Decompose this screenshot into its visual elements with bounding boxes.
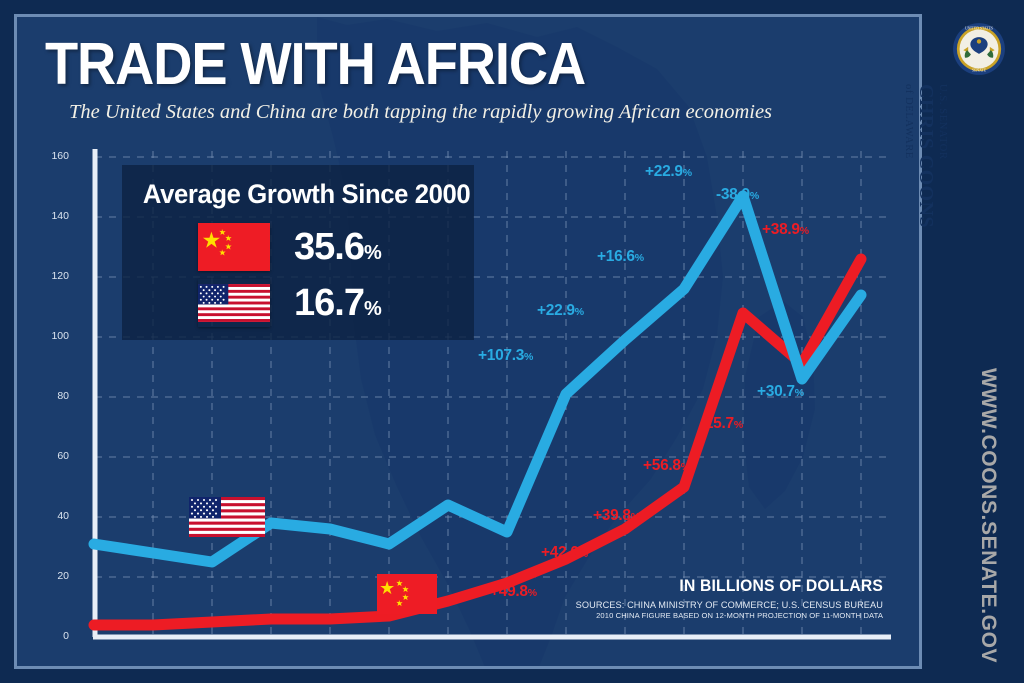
svg-text:SENATE: SENATE xyxy=(972,69,987,73)
annotation-usa-2007-unit: % xyxy=(635,252,644,264)
legend-value-usa: 16.7% xyxy=(294,282,381,325)
annotation-china-2006-unit: % xyxy=(631,511,640,523)
usa-flag-marker xyxy=(189,497,265,537)
annotation-china-2004: +49.8% xyxy=(490,583,537,601)
annotation-china-2010-value: +38.9 xyxy=(762,221,800,238)
source-line-1: SOURCES: CHINA MINISTRY OF COMMERCE; U.S… xyxy=(543,600,883,610)
annotation-usa-2009: -38.9% xyxy=(716,186,759,204)
annotation-china-2006-value: +39.8 xyxy=(593,507,631,524)
y-tick-140: 140 xyxy=(39,210,69,222)
annotation-china-2008-value: -15.7 xyxy=(700,415,734,432)
legend-heading: Average Growth Since 2000 xyxy=(122,165,456,210)
annotation-usa-2006-value: +22.9 xyxy=(537,302,575,319)
senator-state: of DELAWARE xyxy=(903,84,914,244)
legend-value-china-unit: % xyxy=(364,242,381,264)
legend-row-usa: 16.7% xyxy=(198,279,381,327)
annotation-usa-2009-value: -38.9 xyxy=(716,186,750,203)
annotation-usa-2010-value: +30.7 xyxy=(757,383,795,400)
annotation-china-2004-value: +49.8 xyxy=(490,583,528,600)
annotation-china-2007-value: +56.8 xyxy=(643,457,681,474)
y-tick-160: 160 xyxy=(39,150,69,162)
usa-flag-icon xyxy=(198,279,270,327)
svg-text:UNITED STATES: UNITED STATES xyxy=(965,27,993,31)
annotation-usa-2005: +107.3% xyxy=(478,347,533,365)
source-line-2: 2010 CHINA FIGURE BASED ON 12-MONTH PROJ… xyxy=(543,611,883,620)
y-tick-120: 120 xyxy=(39,270,69,282)
infographic-root: TRADE WITH AFRICA The United States and … xyxy=(0,0,1024,683)
annotation-usa-2010-unit: % xyxy=(795,387,804,399)
china-flag-marker xyxy=(377,574,437,614)
annotation-usa-2005-unit: % xyxy=(524,351,533,363)
annotation-usa-2009-unit: % xyxy=(750,190,759,202)
annotation-usa-2005-value: +107.3 xyxy=(478,347,524,364)
caption-block: IN BILLIONS OF DOLLARS SOURCES: CHINA MI… xyxy=(543,577,883,620)
annotation-china-2006: +39.8% xyxy=(593,507,640,525)
annotation-usa-2006: +22.9% xyxy=(537,302,584,320)
legend-value-china: 35.6% xyxy=(294,226,381,269)
annotation-china-2005-value: +42.0 xyxy=(541,544,579,561)
y-tick-100: 100 xyxy=(39,330,69,342)
annotation-china-2010: +38.9% xyxy=(762,221,809,239)
legend-row-china: 35.6% xyxy=(198,223,381,271)
legend-value-usa-number: 16.7 xyxy=(294,282,364,324)
y-tick-20: 20 xyxy=(39,570,69,582)
annotation-china-2007-unit: % xyxy=(681,461,690,473)
annotation-china-2008-unit: % xyxy=(734,419,743,431)
annotation-usa-2010: +30.7% xyxy=(757,383,804,401)
annotation-china-2005-unit: % xyxy=(579,548,588,560)
y-tick-40: 40 xyxy=(39,510,69,522)
annotation-usa-2008-value: +22.9 xyxy=(645,163,683,180)
senator-role: U.S. SENATOR xyxy=(937,84,948,244)
units-label: IN BILLIONS OF DOLLARS xyxy=(560,577,883,596)
website-url[interactable]: WWW.COONS.SENATE.GOV xyxy=(976,368,1000,663)
senator-nameplate: U.S. SENATOR CHRIS COONS of DELAWARE xyxy=(903,84,948,244)
annotation-usa-2006-unit: % xyxy=(575,306,584,318)
annotation-china-2004-unit: % xyxy=(528,587,537,599)
annotation-usa-2008-unit: % xyxy=(683,167,692,179)
us-senate-seal-icon: UNITED STATES SENATE xyxy=(952,22,1006,76)
legend-value-usa-unit: % xyxy=(364,298,381,320)
chart-panel: TRADE WITH AFRICA The United States and … xyxy=(14,14,922,669)
annotation-usa-2007: +16.6% xyxy=(597,248,644,266)
annotation-china-2005: +42.0% xyxy=(541,544,588,562)
annotation-china-2010-unit: % xyxy=(800,225,809,237)
page-title: TRADE WITH AFRICA xyxy=(45,33,585,95)
annotation-china-2008: -15.7% xyxy=(700,415,743,433)
page-subtitle: The United States and China are both tap… xyxy=(69,101,772,124)
senator-name: CHRIS COONS xyxy=(914,84,937,244)
y-tick-0: 0 xyxy=(39,630,69,642)
y-tick-80: 80 xyxy=(39,390,69,402)
china-flag-icon xyxy=(198,223,270,271)
legend-value-china-number: 35.6 xyxy=(294,226,364,268)
legend-card: Average Growth Since 2000 35.6% xyxy=(122,165,474,340)
annotation-china-2007: +56.8% xyxy=(643,457,690,475)
y-tick-60: 60 xyxy=(39,450,69,462)
annotation-usa-2007-value: +16.6 xyxy=(597,248,635,265)
annotation-usa-2008: +22.9% xyxy=(645,163,692,181)
